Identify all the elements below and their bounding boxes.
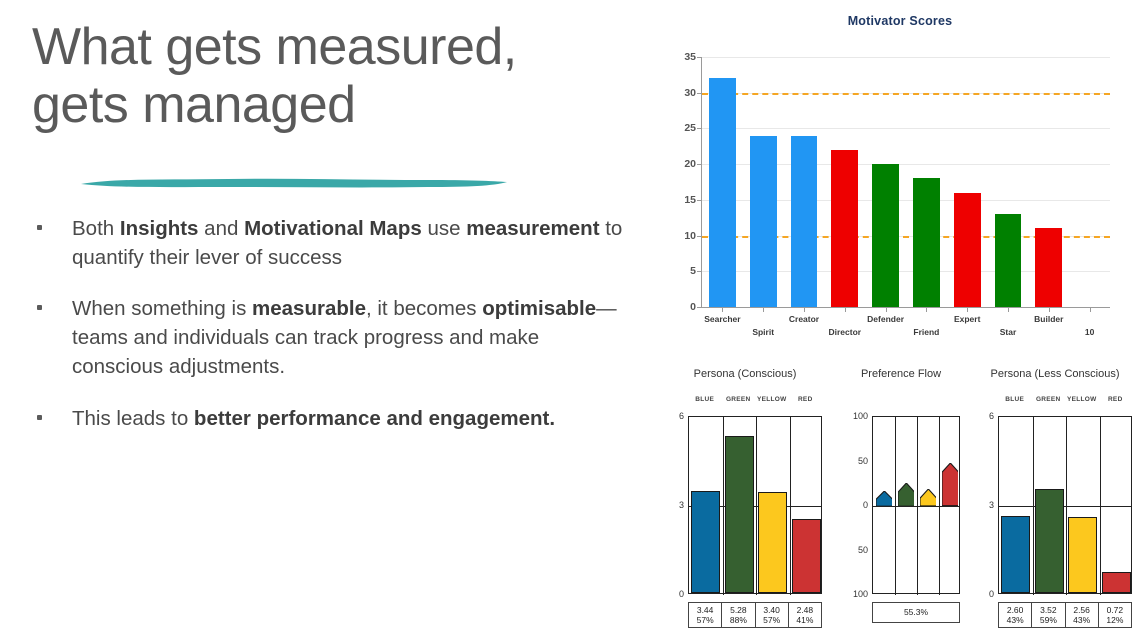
bar [954, 193, 981, 307]
column-header: YELLOW [757, 396, 787, 403]
bar [1102, 572, 1131, 593]
motivator-bars [702, 57, 1110, 307]
y-tick-label: 0 [846, 500, 868, 510]
bar [750, 136, 777, 307]
bullet-text-2: When something is measurable, it becomes… [72, 297, 617, 378]
column-header: GREEN [1036, 396, 1061, 403]
y-tick-label: 50 [846, 456, 868, 466]
x-tick [763, 307, 764, 312]
slide-root: What gets measured, gets managed Both In… [0, 0, 1140, 631]
x-tick-label: Creator [789, 314, 819, 324]
y-tick-label: 15 [666, 194, 696, 206]
bar [691, 491, 720, 593]
persona-less-conscious-title: Persona (Less Conscious) [976, 368, 1134, 380]
bar [1035, 228, 1062, 307]
bar [995, 214, 1022, 307]
bullet-text-1: Both Insights and Motivational Maps use … [72, 217, 622, 269]
y-tick-label: 0 [666, 301, 696, 313]
x-tick [1049, 307, 1050, 312]
y-tick-label: 25 [666, 122, 696, 134]
x-tick [1008, 307, 1009, 312]
y-tick-label: 10 [666, 230, 696, 242]
x-tick [722, 307, 723, 312]
x-tick [967, 307, 968, 312]
flow-arrow [898, 483, 915, 506]
value-cell: 3.4457% [689, 603, 722, 627]
column-header: RED [1108, 396, 1123, 403]
value-cell: 2.5643% [1066, 603, 1099, 627]
bullet-text-3: This leads to better performance and eng… [72, 407, 555, 430]
y-tick-label: 0 [662, 589, 684, 599]
preference-flow-title: Preference Flow [838, 368, 964, 380]
value-cell: 5.2888% [722, 603, 755, 627]
column-header: RED [798, 396, 813, 403]
bar [1001, 516, 1030, 593]
y-tick-label: 30 [666, 87, 696, 99]
x-tick [845, 307, 846, 312]
x-tick-label: Builder [1034, 314, 1063, 324]
y-tick-label: 5 [666, 265, 696, 277]
motivator-chart-title: Motivator Scores [666, 14, 1134, 28]
column-header: BLUE [695, 396, 714, 403]
bullet-list: Both Insights and Motivational Maps use … [30, 214, 630, 455]
x-tick [1090, 307, 1091, 312]
bar [831, 150, 858, 307]
y-tick-label: 6 [662, 411, 684, 421]
x-tick [886, 307, 887, 312]
y-tick-label: 20 [666, 158, 696, 170]
x-tick-label: Spirit [752, 327, 774, 337]
accent-brush-stroke [78, 171, 510, 193]
motivator-scores-chart: Motivator Scores 05101520253035 Searcher… [666, 14, 1134, 334]
x-tick-label: Star [1000, 327, 1017, 337]
x-tick-label: Defender [867, 314, 904, 324]
y-tick-label: 35 [666, 51, 696, 63]
bar [913, 178, 940, 307]
x-tick-label: Searcher [704, 314, 740, 324]
flow-arrow [876, 491, 893, 506]
y-tick-label: 3 [662, 500, 684, 510]
slide-left-column: What gets measured, gets managed Both In… [0, 0, 660, 631]
value-cell: 3.4057% [756, 603, 789, 627]
list-item: When something is measurable, it becomes… [30, 294, 630, 381]
title-line-2: gets managed [32, 76, 632, 134]
bullet-marker-icon [37, 415, 42, 420]
x-tick-label: 10 [1085, 327, 1094, 337]
persona-conscious-column-headers: BLUEGREENYELLOWRED [666, 396, 824, 408]
persona-conscious-title: Persona (Conscious) [666, 368, 824, 380]
persona-less-conscious-plot [998, 416, 1132, 594]
x-tick-label: Expert [954, 314, 980, 324]
bar [725, 436, 754, 593]
bar [872, 164, 899, 307]
value-cell: 3.5259% [1032, 603, 1065, 627]
list-item: This leads to better performance and eng… [30, 404, 630, 433]
persona-conscious-value-table: 3.4457%5.2888%3.4057%2.4841% [688, 602, 822, 628]
preference-flow-summary-table: 55.3% [872, 602, 960, 623]
flow-arrow [942, 463, 959, 506]
x-tick [804, 307, 805, 312]
y-tick-label: 100 [846, 411, 868, 421]
bar [1035, 489, 1064, 593]
column-header: BLUE [1005, 396, 1024, 403]
y-tick-label: 3 [972, 500, 994, 510]
bar [709, 78, 736, 307]
x-tick-label: Friend [913, 327, 939, 337]
column-header: YELLOW [1067, 396, 1097, 403]
y-tick-label: 0 [972, 589, 994, 599]
preference-flow-plot [872, 416, 960, 594]
motivator-plot-area [702, 57, 1110, 307]
title-line-1: What gets measured, [32, 18, 632, 76]
list-item: Both Insights and Motivational Maps use … [30, 214, 630, 272]
flow-arrow [920, 489, 937, 506]
y-tick [697, 307, 702, 308]
persona-less-column-headers: BLUEGREENYELLOWRED [976, 396, 1134, 408]
bar [791, 136, 818, 307]
bar [1068, 517, 1097, 593]
bar [758, 492, 787, 593]
column-header: GREEN [726, 396, 751, 403]
x-tick [926, 307, 927, 312]
persona-panels: Persona (Conscious) BLUEGREENYELLOWRED 0… [666, 368, 1134, 631]
persona-less-conscious-value-table: 2.6043%3.5259%2.5643%0.7212% [998, 602, 1132, 628]
value-cell: 2.4841% [789, 603, 821, 627]
bullet-marker-icon [37, 305, 42, 310]
value-cell: 2.6043% [999, 603, 1032, 627]
y-tick-label: 50 [846, 545, 868, 555]
persona-conscious-plot [688, 416, 822, 594]
page-title: What gets measured, gets managed [32, 18, 632, 134]
y-tick-label: 6 [972, 411, 994, 421]
zero-line [873, 506, 959, 507]
x-tick-label: Director [829, 327, 862, 337]
y-tick-label: 100 [846, 589, 868, 599]
flow-summary-value: 55.3% [873, 603, 959, 622]
bullet-marker-icon [37, 225, 42, 230]
value-cell: 0.7212% [1099, 603, 1131, 627]
bar [792, 519, 821, 593]
midline [999, 506, 1131, 507]
